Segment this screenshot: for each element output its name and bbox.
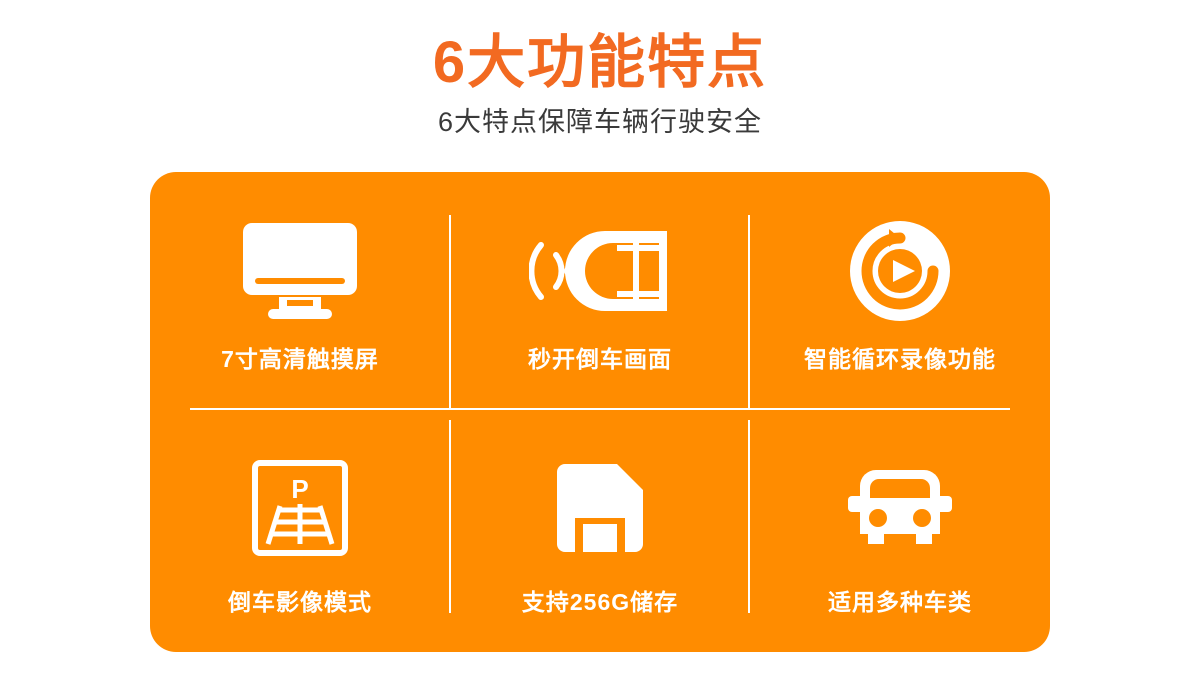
feature-item-loop-recording[interactable]: 智能循环录像功能 <box>750 172 1050 412</box>
feature-label: 7寸高清触摸屏 <box>221 345 379 373</box>
page-header: 6大功能特点 6大特点保障车辆行驶安全 <box>0 0 1200 138</box>
monitor-screen-icon <box>241 211 359 331</box>
feature-item-instant-reverse-view[interactable]: 秒开倒车画面 <box>450 172 750 412</box>
feature-label: 智能循环录像功能 <box>804 345 996 373</box>
page-title: 6大功能特点 <box>0 0 1200 94</box>
sd-card-icon <box>557 448 643 568</box>
feature-item-storage[interactable]: 支持256G储存 <box>450 412 750 652</box>
features-grid: 7寸高清触摸屏 <box>150 172 1050 652</box>
page-subtitle: 6大特点保障车辆行驶安全 <box>0 94 1200 138</box>
feature-highlight-page: 6大功能特点 6大特点保障车辆行驶安全 <box>0 0 1200 693</box>
feature-label: 倒车影像模式 <box>228 588 372 616</box>
feature-label: 支持256G储存 <box>522 588 678 616</box>
car-front-icon <box>848 448 952 568</box>
feature-item-reverse-camera-mode[interactable]: P 倒车影像模式 <box>150 412 450 652</box>
feature-label: 秒开倒车画面 <box>528 345 672 373</box>
svg-text:P: P <box>291 474 308 504</box>
loop-record-icon <box>849 211 951 331</box>
parking-guideline-icon: P <box>252 448 348 568</box>
feature-item-vehicle-compatibility[interactable]: 适用多种车类 <box>750 412 1050 652</box>
feature-item-touchscreen[interactable]: 7寸高清触摸屏 <box>150 172 450 412</box>
car-reverse-radar-icon <box>529 211 671 331</box>
features-panel: 7寸高清触摸屏 <box>150 172 1050 652</box>
feature-label: 适用多种车类 <box>828 588 972 616</box>
